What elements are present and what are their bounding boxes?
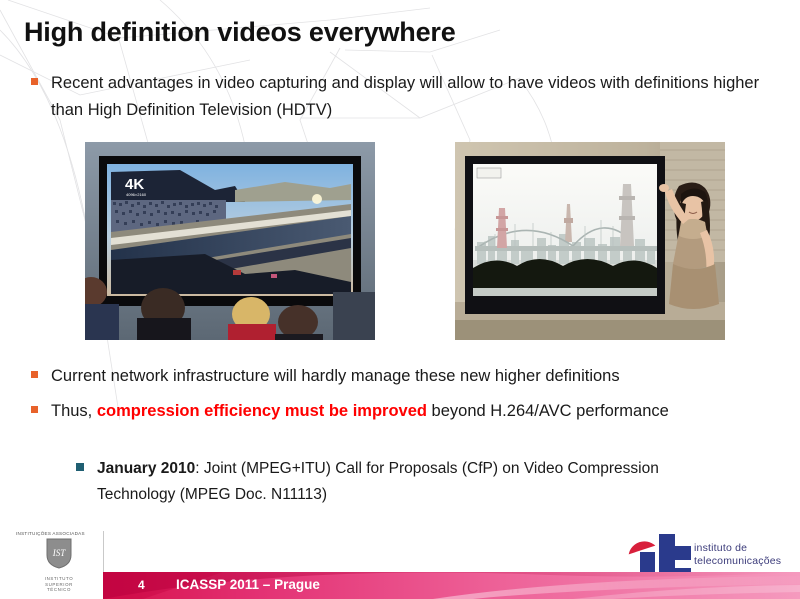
footer-page-number: 4 [138,578,145,592]
bullet-item: Current network infrastructure will hard… [31,363,779,390]
svg-text:IST: IST [52,548,66,558]
presentation-slide: High definition videos everywhere Recent… [0,0,800,599]
slide-title: High definition videos everywhere [24,17,456,48]
ist-name-line3: TÉCNICO [14,587,104,593]
ist-shield-icon: IST [14,538,104,574]
square-bullet-icon [31,371,38,378]
it-logo-text: instituto de telecomunicações [694,542,781,568]
bullet-text-highlight: compression efficiency must be improved [97,402,427,420]
4k-display-racetrack-photo: 4K 4096×2160 [85,142,375,340]
bullet-text-before: Thus, [51,402,97,420]
sub-bullet-item: January 2010: Joint (MPEG+ITU) Call for … [76,456,776,508]
ist-logo: INSTITUIÇÕES ASSOCIADAS IST INSTITUTO SU… [14,531,104,595]
svg-text:4096×2160: 4096×2160 [126,192,147,197]
bullet-text: Recent advantages in video capturing and… [51,70,769,124]
bullet-text: Current network infrastructure will hard… [51,363,620,390]
logo-divider [103,531,104,575]
bullet-item: Recent advantages in video capturing and… [31,70,779,124]
bullet-item: Thus, compression efficiency must be imp… [31,398,779,425]
large-display-bridge-photo [455,142,725,340]
square-bullet-icon [31,406,38,413]
sub-bullet-date: January 2010 [97,460,195,477]
bullet-text-after: beyond H.264/AVC performance [427,402,669,420]
square-sub-bullet-icon [76,463,84,471]
ist-associated-label: INSTITUIÇÕES ASSOCIADAS [16,531,104,536]
it-logo-line1: instituto de [694,542,781,555]
it-logo-line2: telecomunicações [694,555,781,568]
svg-text:4K: 4K [125,176,144,193]
footer-conference-title: ICASSP 2011 – Prague [176,577,320,592]
ist-name: INSTITUTO SUPERIOR TÉCNICO [14,576,104,593]
square-bullet-icon [31,78,38,85]
